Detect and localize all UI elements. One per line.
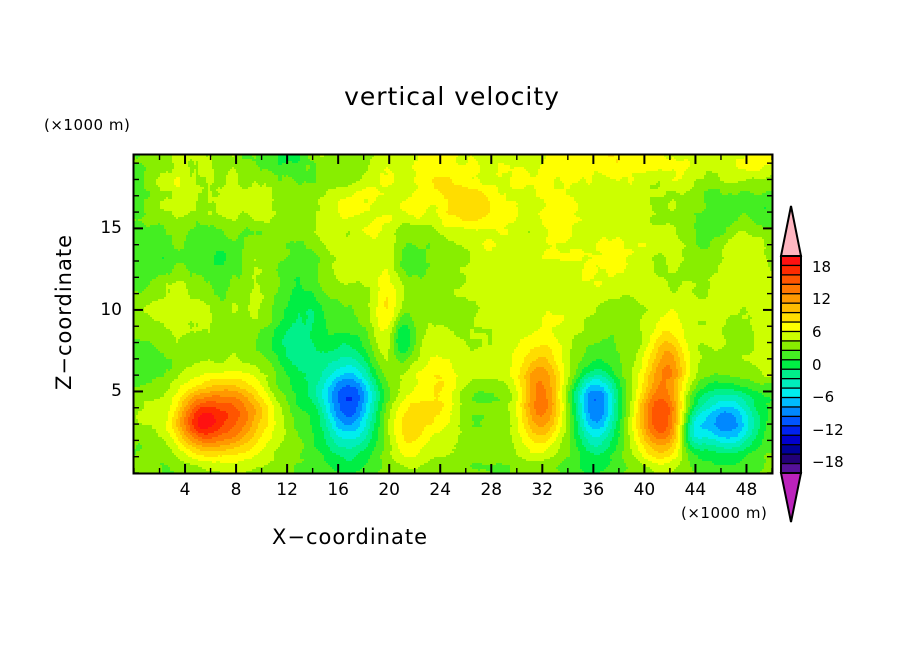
x-tick-label: 16: [327, 480, 349, 500]
colorbar-tick-label: 18: [812, 258, 831, 276]
x-tick-label: 28: [480, 480, 502, 500]
contour-field-clip: [134, 155, 773, 474]
x-tick-label: 44: [685, 480, 707, 500]
x-tick-label: 20: [378, 480, 400, 500]
y-tick-label: 10: [88, 300, 122, 320]
x-tick-label: 48: [736, 480, 758, 500]
contour-plot: [0, 0, 904, 654]
y-tick-label: 5: [88, 381, 122, 401]
x-tick-label: 8: [231, 480, 242, 500]
colorbar: [781, 206, 801, 522]
colorbar-tick-label: 6: [812, 323, 822, 341]
x-tick-label: 36: [583, 480, 605, 500]
colorbar-over-cap: [781, 206, 801, 256]
x-tick-label: 4: [180, 480, 191, 500]
x-tick-label: 24: [429, 480, 451, 500]
colorbar-tick-label: 12: [812, 290, 831, 308]
figure-root: vertical velocity (×1000 m) (×1000 m) X−…: [0, 0, 904, 654]
colorbar-under-cap: [781, 473, 801, 522]
colorbar-tick-label: −18: [812, 453, 844, 471]
x-tick-label: 40: [634, 480, 656, 500]
y-tick-label: 15: [88, 218, 122, 238]
colorbar-tick-label: −6: [812, 388, 834, 406]
contour-field: [134, 155, 773, 474]
x-tick-label: 12: [276, 480, 298, 500]
colorbar-tick-label: 0: [812, 356, 822, 374]
x-tick-label: 32: [531, 480, 553, 500]
colorbar-tick-label: −12: [812, 421, 844, 439]
